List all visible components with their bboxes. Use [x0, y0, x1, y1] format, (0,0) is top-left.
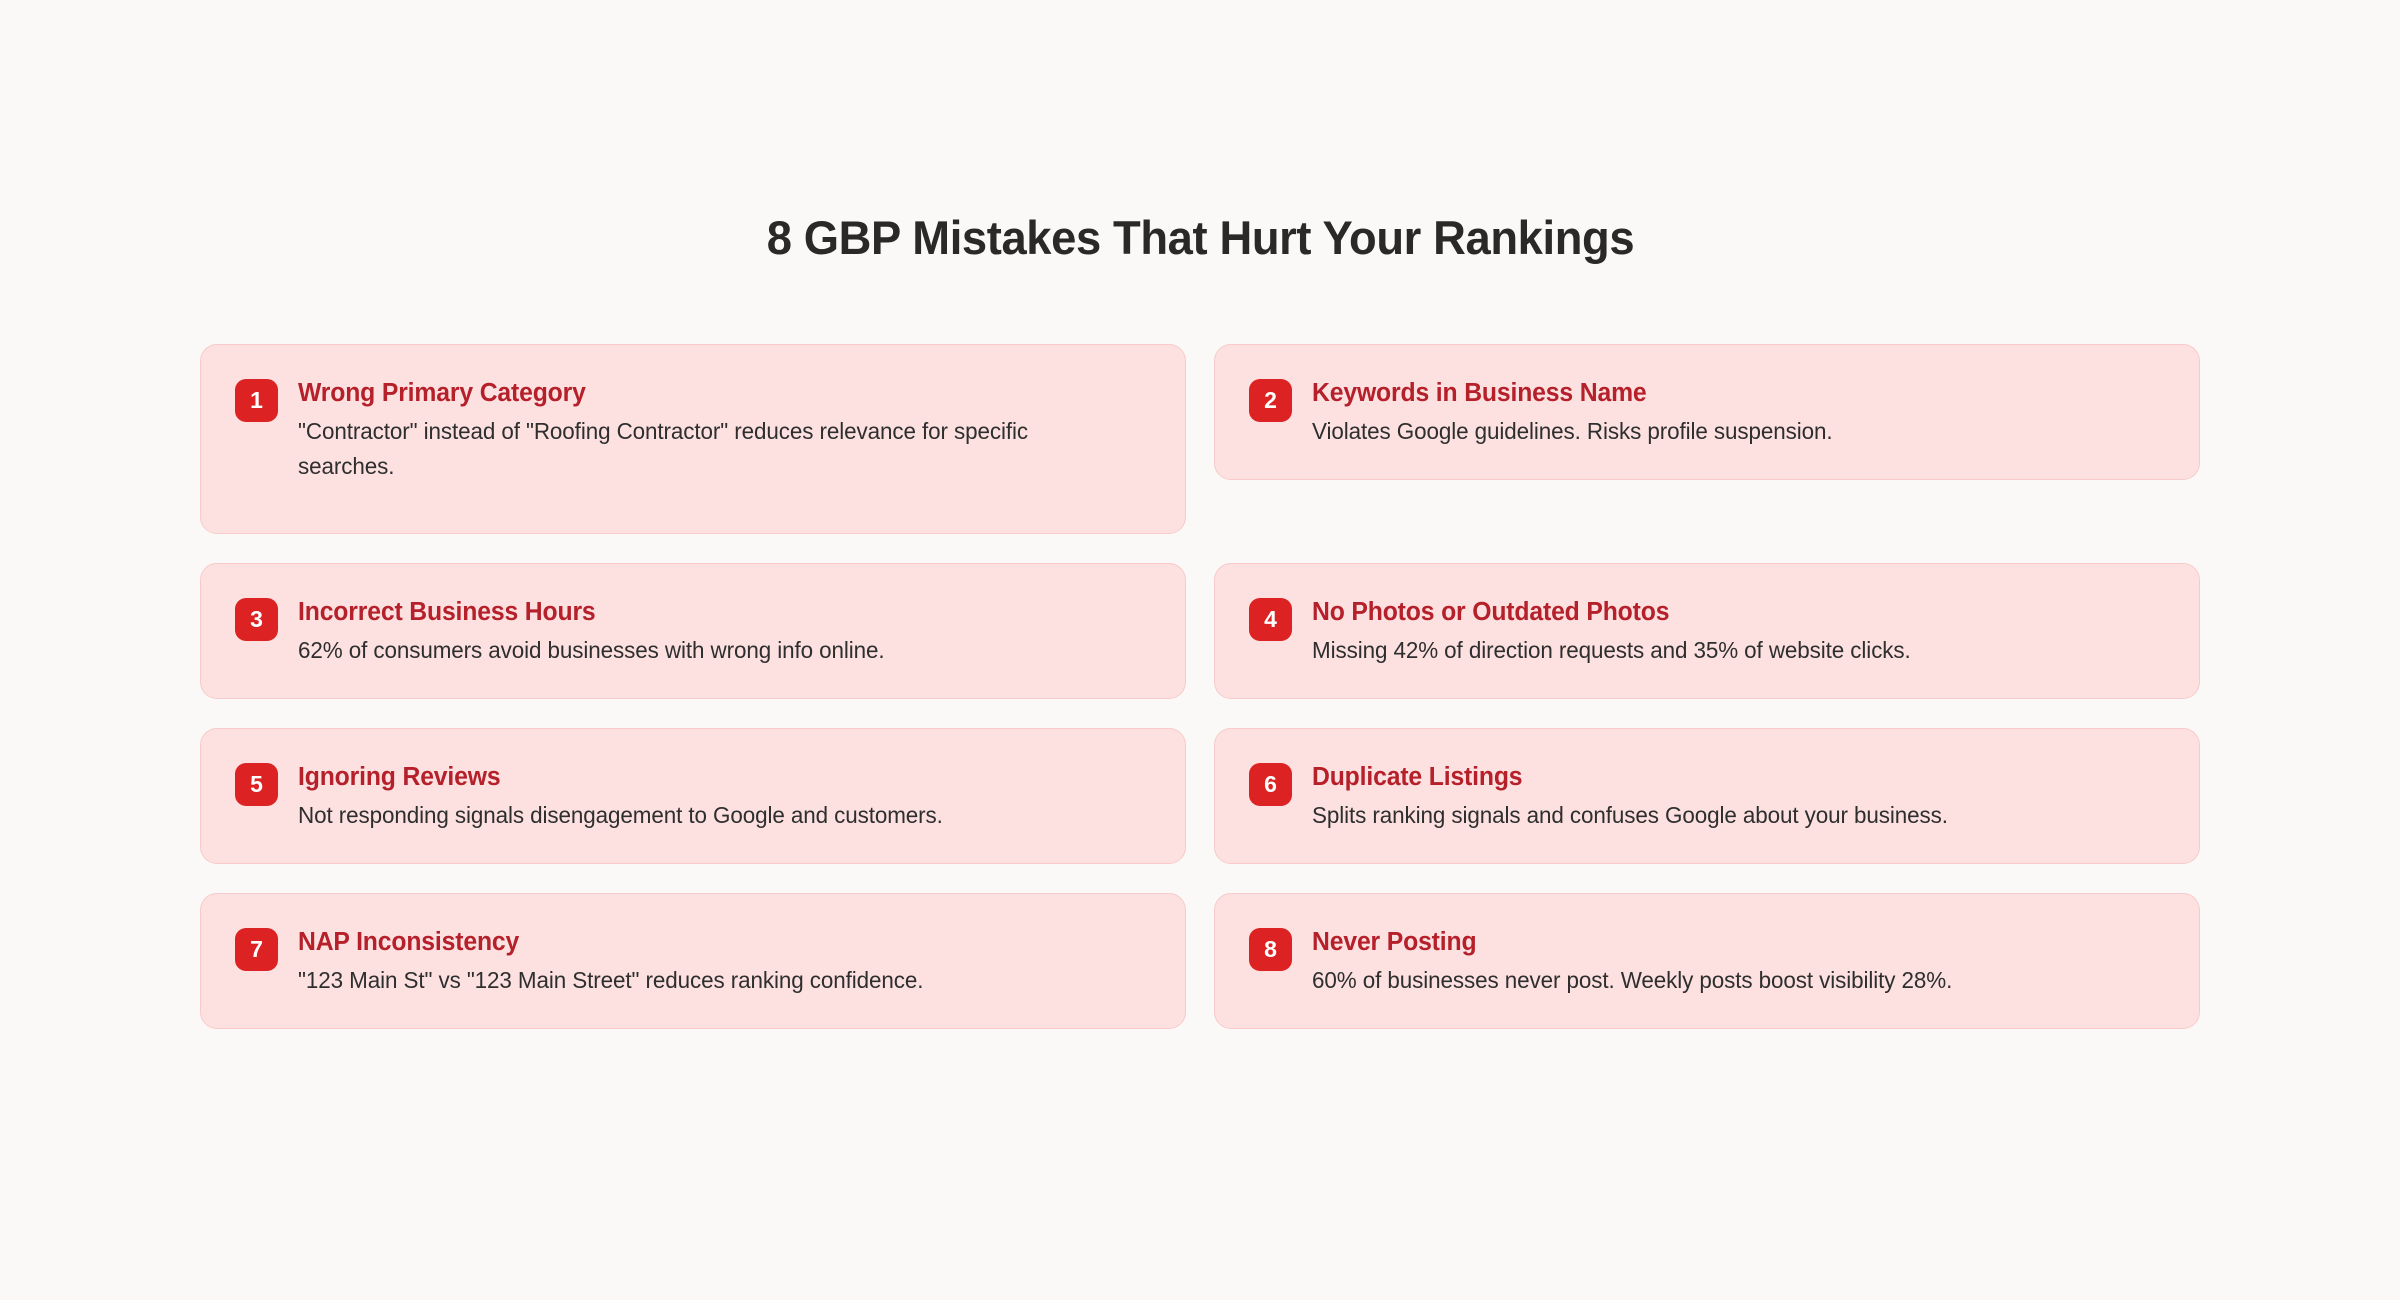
mistake-card-body-3: Incorrect Business Hours 62% of consumer… — [298, 596, 1151, 668]
mistake-title-5: Ignoring Reviews — [298, 762, 1125, 792]
mistake-description-5: Not responding signals disengagement to … — [298, 798, 1130, 833]
mistake-card-8: 8 Never Posting 60% of businesses never … — [1214, 893, 2200, 1029]
mistake-title-3: Incorrect Business Hours — [298, 597, 1125, 627]
mistake-number-badge-8: 8 — [1249, 928, 1292, 971]
mistake-title-4: No Photos or Outdated Photos — [1312, 597, 2139, 627]
mistake-card-7: 7 NAP Inconsistency "123 Main St" vs "12… — [200, 893, 1186, 1029]
mistake-card-3: 3 Incorrect Business Hours 62% of consum… — [200, 563, 1186, 699]
page-title-container: 8 GBP Mistakes That Hurt Your Rankings — [0, 212, 2400, 265]
mistake-card-1: 1 Wrong Primary Category "Contractor" in… — [200, 344, 1186, 534]
mistake-title-6: Duplicate Listings — [1312, 762, 2139, 792]
mistake-description-1: "Contractor" instead of "Roofing Contrac… — [298, 414, 1130, 484]
mistake-title-2: Keywords in Business Name — [1312, 378, 2139, 408]
mistake-card-5: 5 Ignoring Reviews Not responding signal… — [200, 728, 1186, 864]
mistake-card-body-1: Wrong Primary Category "Contractor" inst… — [298, 377, 1151, 484]
mistake-title-7: NAP Inconsistency — [298, 927, 1125, 957]
mistake-card-2: 2 Keywords in Business Name Violates Goo… — [1214, 344, 2200, 480]
mistake-card-body-7: NAP Inconsistency "123 Main St" vs "123 … — [298, 926, 1151, 998]
mistake-description-3: 62% of consumers avoid businesses with w… — [298, 633, 1130, 668]
page-title: 8 GBP Mistakes That Hurt Your Rankings — [766, 212, 1633, 265]
mistake-number-badge-5: 5 — [235, 763, 278, 806]
mistake-card-body-8: Never Posting 60% of businesses never po… — [1312, 926, 2165, 998]
mistakes-card-grid: 1 Wrong Primary Category "Contractor" in… — [200, 344, 2200, 1029]
mistake-number-badge-4: 4 — [1249, 598, 1292, 641]
mistake-number-badge-6: 6 — [1249, 763, 1292, 806]
mistake-title-8: Never Posting — [1312, 927, 2139, 957]
mistake-card-6: 6 Duplicate Listings Splits ranking sign… — [1214, 728, 2200, 864]
mistake-number-badge-3: 3 — [235, 598, 278, 641]
infographic-page: 8 GBP Mistakes That Hurt Your Rankings 1… — [0, 0, 2400, 1300]
mistake-card-body-6: Duplicate Listings Splits ranking signal… — [1312, 761, 2165, 833]
mistake-description-7: "123 Main St" vs "123 Main Street" reduc… — [298, 963, 1130, 998]
mistake-description-6: Splits ranking signals and confuses Goog… — [1312, 798, 2144, 833]
mistake-description-4: Missing 42% of direction requests and 35… — [1312, 633, 2144, 668]
mistake-number-badge-2: 2 — [1249, 379, 1292, 422]
mistake-description-8: 60% of businesses never post. Weekly pos… — [1312, 963, 2144, 998]
mistake-number-badge-1: 1 — [235, 379, 278, 422]
mistake-number-badge-7: 7 — [235, 928, 278, 971]
mistake-card-body-2: Keywords in Business Name Violates Googl… — [1312, 377, 2165, 449]
mistake-card-body-5: Ignoring Reviews Not responding signals … — [298, 761, 1151, 833]
mistake-description-2: Violates Google guidelines. Risks profil… — [1312, 414, 2144, 449]
mistake-card-4: 4 No Photos or Outdated Photos Missing 4… — [1214, 563, 2200, 699]
mistake-title-1: Wrong Primary Category — [298, 378, 1125, 408]
mistake-card-body-4: No Photos or Outdated Photos Missing 42%… — [1312, 596, 2165, 668]
